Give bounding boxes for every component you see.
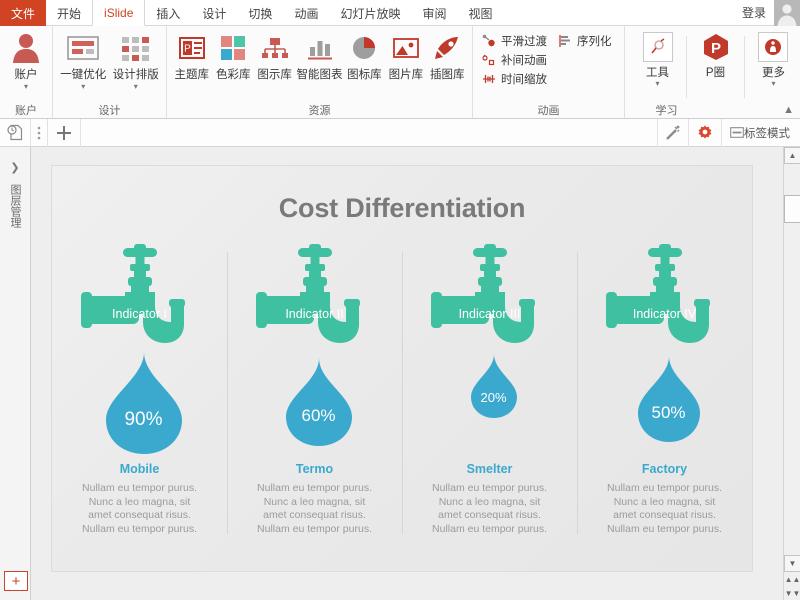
ribbon-group-account-title: 账户 [4, 102, 48, 118]
left-panel-rail: ❯ 图层管理 + [0, 147, 31, 600]
chevron-right-icon[interactable]: ❯ [10, 161, 19, 174]
login-link[interactable]: 登录 [734, 0, 774, 25]
chevron-down-icon[interactable]: ▾ [24, 83, 28, 91]
ribbon-group-learning-title: 学习 [629, 102, 704, 118]
diagram-library-label: 图示库 [257, 66, 292, 82]
svg-text:P: P [710, 40, 720, 57]
percent-value: 90% [100, 409, 188, 431]
vertical-scrollbar[interactable]: ▲ ▼ ▲▲ ▼▼ [783, 147, 800, 600]
column-caption: Factory [577, 462, 752, 476]
column-caption: Smelter [402, 462, 577, 476]
chevron-down-icon[interactable]: ▾ [656, 80, 660, 88]
ribbon-group-resources: P 主题库 [166, 26, 472, 118]
menu-item-review[interactable]: 审阅 [411, 0, 457, 26]
column-body-text: Nullam eu tempor purus. Nunc a leo magna… [52, 482, 227, 536]
smooth-transition-item[interactable]: 平滑过渡 [481, 33, 547, 49]
sequence-icon [557, 34, 572, 49]
more-label: 更多 [762, 64, 785, 80]
menu-item-view[interactable]: 视图 [457, 0, 503, 26]
column-body-text: Nullam eu tempor purus. Nunc a leo magna… [402, 482, 577, 536]
scroll-down-button[interactable]: ▼ [784, 555, 800, 572]
diagram-library-icon [260, 31, 290, 65]
water-drop: 20% [467, 354, 521, 425]
menu-spacer [504, 0, 734, 25]
infographic-column[interactable]: Indicator III 20% Smelter Nullam eu temp… [402, 244, 577, 564]
chevron-down-icon[interactable]: ▾ [81, 83, 85, 91]
chevron-down-icon[interactable]: ▾ [771, 80, 775, 88]
menu-item-insert[interactable]: 插入 [145, 0, 191, 26]
drop-wrap: 90% [52, 352, 227, 467]
next-slide-icon[interactable]: ▼▼ [784, 586, 800, 600]
tools-icon [643, 32, 673, 62]
column-body-text: Nullam eu tempor purus. Nunc a leo magna… [227, 482, 402, 536]
water-drop: 90% [100, 352, 188, 461]
slide-editing-stage[interactable]: Cost Differentiation [31, 147, 783, 600]
faucet-icon [402, 244, 577, 359]
menu-bar: 文件 开始 iSlide 插入 设计 切换 动画 幻灯片放映 审阅 视图 登录 [0, 0, 800, 26]
slide-title[interactable]: Cost Differentiation [52, 193, 752, 224]
column-caption: Mobile [52, 462, 227, 476]
icon-library-label: 图标库 [347, 66, 382, 82]
tween-animation-label: 补间动画 [501, 52, 547, 68]
chevron-up-icon[interactable]: ▲ [783, 104, 794, 116]
design-layout-label: 设计排版 [113, 66, 159, 82]
faucet-icon [52, 244, 227, 359]
drop-wrap: 60% [227, 352, 402, 467]
design-layout-icon [120, 31, 152, 65]
smooth-transition-label: 平滑过渡 [501, 33, 547, 49]
column-caption: Termo [227, 462, 402, 476]
percent-value: 50% [633, 403, 705, 423]
scrollbar-bottom-controls: ▼ ▲▲ ▼▼ [784, 555, 800, 600]
one-click-optimize-label: 一键优化 [60, 66, 106, 82]
tools-label: 工具 [646, 64, 669, 80]
previous-slide-icon[interactable]: ▲▲ [784, 572, 800, 586]
design-layout-button[interactable]: 设计排版 ▾ [110, 29, 163, 91]
smart-chart-button[interactable]: 智能图表 [295, 29, 343, 82]
time-scale-icon [481, 72, 496, 87]
icon-library-button[interactable]: 图标库 [344, 29, 385, 82]
powerpoint-window: 文件 开始 iSlide 插入 设计 切换 动画 幻灯片放映 审阅 视图 登录 [0, 0, 800, 600]
time-scale-item[interactable]: 时间缩放 [481, 71, 614, 87]
drop-wrap: 50% [577, 352, 752, 467]
time-scale-label: 时间缩放 [501, 71, 547, 87]
p-circle-button[interactable]: P P圈 [693, 32, 738, 80]
toolbar-divider [80, 119, 81, 147]
one-click-optimize-icon [66, 31, 100, 65]
tween-animation-item[interactable]: 补间动画 [481, 52, 614, 68]
menu-item-animations[interactable]: 动画 [283, 0, 329, 26]
group-divider [686, 36, 687, 98]
ribbon-group-learning: 工具 ▾ P P圈 [624, 26, 800, 118]
group-divider [744, 36, 745, 98]
color-library-icon [219, 31, 247, 65]
p-circle-icon: P [701, 32, 731, 62]
account-button-label: 账户 [15, 66, 38, 82]
ribbon-group-animation-title: 动画 [477, 102, 620, 118]
one-click-optimize-button[interactable]: 一键优化 ▾ [57, 29, 110, 91]
percent-value: 20% [467, 390, 521, 405]
vertical-dots-icon[interactable] [31, 119, 47, 147]
smooth-transition-icon [481, 34, 496, 49]
drop-wrap: 20% [402, 352, 577, 467]
ribbon-group-design: 一键优化 ▾ [52, 26, 166, 118]
svg-text:P: P [184, 44, 191, 55]
ribbon-group-account: 账户 ▾ 账户 [0, 26, 52, 118]
water-drop: 50% [633, 356, 705, 449]
layer-panel-label[interactable]: 图层管理 [9, 184, 21, 228]
sequence-label: 序列化 [577, 33, 612, 49]
tag-mode-icon[interactable] [722, 119, 744, 147]
picture-library-label: 图片库 [389, 66, 424, 82]
color-library-button[interactable]: 色彩库 [212, 29, 253, 82]
tween-animation-icon [481, 53, 496, 68]
icon-library-icon [349, 31, 379, 65]
theme-library-button[interactable]: P 主题库 [171, 29, 212, 82]
sequence-item[interactable]: 序列化 [557, 33, 612, 49]
magic-wand-icon[interactable] [658, 119, 688, 147]
tag-mode-label[interactable]: 标签模式 [744, 125, 800, 141]
menu-item-slideshow[interactable]: 幻灯片放映 [329, 0, 411, 26]
history-document-icon[interactable] [0, 119, 30, 147]
user-avatar-icon[interactable] [774, 0, 800, 26]
column-body-text: Nullam eu tempor purus. Nunc a leo magna… [577, 482, 752, 536]
water-drop: 60% [281, 358, 357, 453]
infographic-column[interactable]: Indicator II 60% Termo Nullam eu tempor … [227, 244, 402, 564]
smart-chart-icon [305, 31, 335, 65]
diagram-library-button[interactable]: 图示库 [254, 29, 295, 82]
scroll-up-button[interactable]: ▲ [784, 147, 800, 164]
more-icon [758, 32, 788, 62]
picture-library-button[interactable]: 图片库 [385, 29, 426, 82]
illustration-library-button[interactable]: 插图库 [427, 29, 468, 82]
islide-sub-toolbar: 标签模式 [0, 119, 800, 147]
faucet-icon [577, 244, 752, 359]
color-library-label: 色彩库 [216, 66, 251, 82]
menu-item-file[interactable]: 文件 [0, 0, 46, 26]
more-button[interactable]: 更多 ▾ [751, 32, 796, 88]
infographic-column[interactable]: Indicator IV 50% Factory Nullam eu tempo… [577, 244, 752, 564]
menu-item-design[interactable]: 设计 [191, 0, 237, 26]
theme-library-label: 主题库 [174, 66, 209, 82]
add-panel-button[interactable]: + [4, 571, 28, 591]
percent-value: 60% [281, 406, 357, 426]
slide-canvas[interactable]: Cost Differentiation [52, 166, 752, 571]
menu-item-islide[interactable]: iSlide [92, 0, 145, 26]
infographic-columns: Indicator I 90% Mobile Nullam eu tempor … [52, 244, 752, 564]
menu-item-home[interactable]: 开始 [46, 0, 92, 26]
account-button[interactable]: 账户 ▾ [4, 29, 48, 91]
ribbon-group-design-title: 设计 [57, 102, 162, 118]
add-slide-button[interactable] [48, 119, 80, 147]
ribbon-toolbar: 账户 ▾ 账户 一键优化 [0, 26, 800, 119]
account-person-icon [11, 31, 41, 65]
scrollbar-thumb[interactable] [784, 195, 800, 223]
p-circle-label: P圈 [706, 64, 725, 80]
smart-chart-label: 智能图表 [297, 66, 343, 82]
gear-icon[interactable] [689, 119, 721, 147]
ribbon-group-animation: 平滑过渡 序列化 [472, 26, 624, 118]
ribbon-group-resources-title: 资源 [171, 102, 468, 118]
illustration-library-label: 插图库 [430, 66, 465, 82]
menu-item-transitions[interactable]: 切换 [237, 0, 283, 26]
tools-button[interactable]: 工具 ▾ [635, 32, 680, 88]
faucet-icon [227, 244, 402, 359]
picture-library-icon [391, 31, 421, 65]
illustration-library-icon [432, 31, 462, 65]
infographic-column[interactable]: Indicator I 90% Mobile Nullam eu tempor … [52, 244, 227, 564]
chevron-down-icon[interactable]: ▾ [134, 83, 138, 91]
theme-library-icon: P [177, 31, 207, 65]
